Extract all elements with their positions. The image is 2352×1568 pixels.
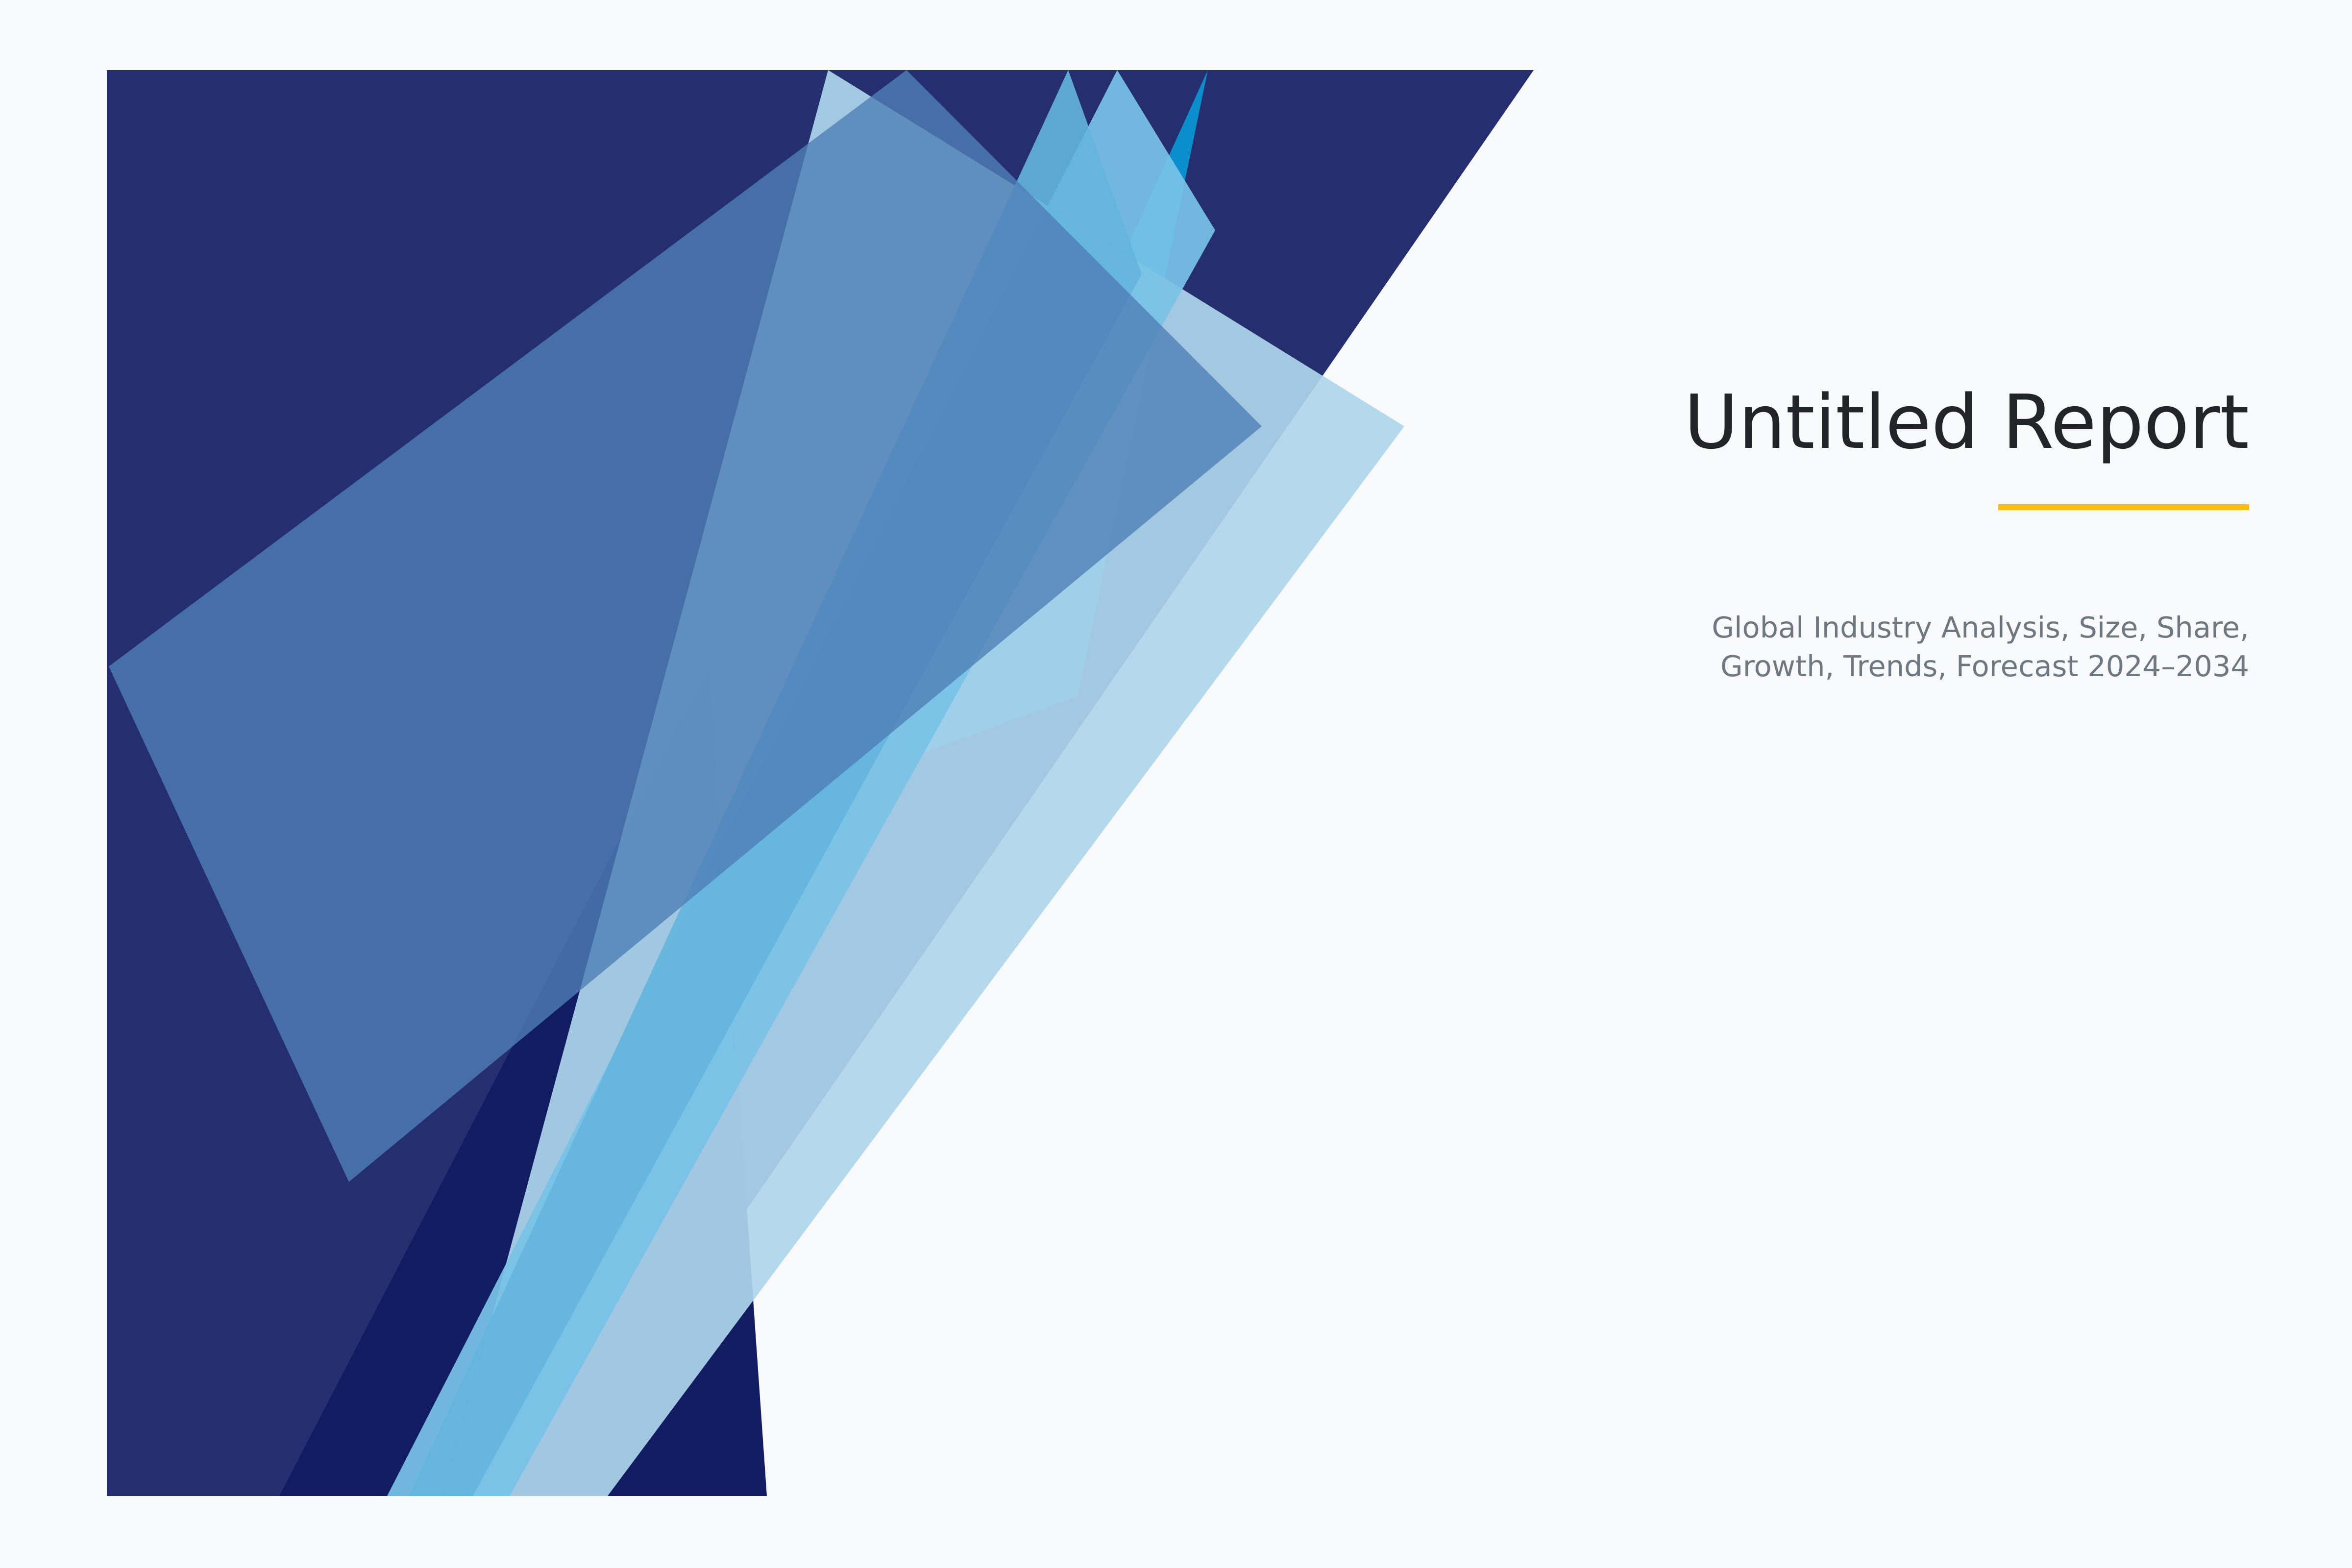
accent-rule-divider (1998, 504, 2249, 510)
cover-subtitle: Global Industry Analysis, Size, Share, G… (1597, 608, 2249, 686)
page-title: Untitled Report (1597, 382, 2249, 463)
cover-artwork (0, 0, 1617, 1568)
cover-title-block: Untitled Report Global Industry Analysis… (1597, 382, 2249, 686)
report-cover-page: Untitled Report Global Industry Analysis… (0, 0, 2352, 1568)
geometric-graphic-svg (0, 0, 1617, 1568)
